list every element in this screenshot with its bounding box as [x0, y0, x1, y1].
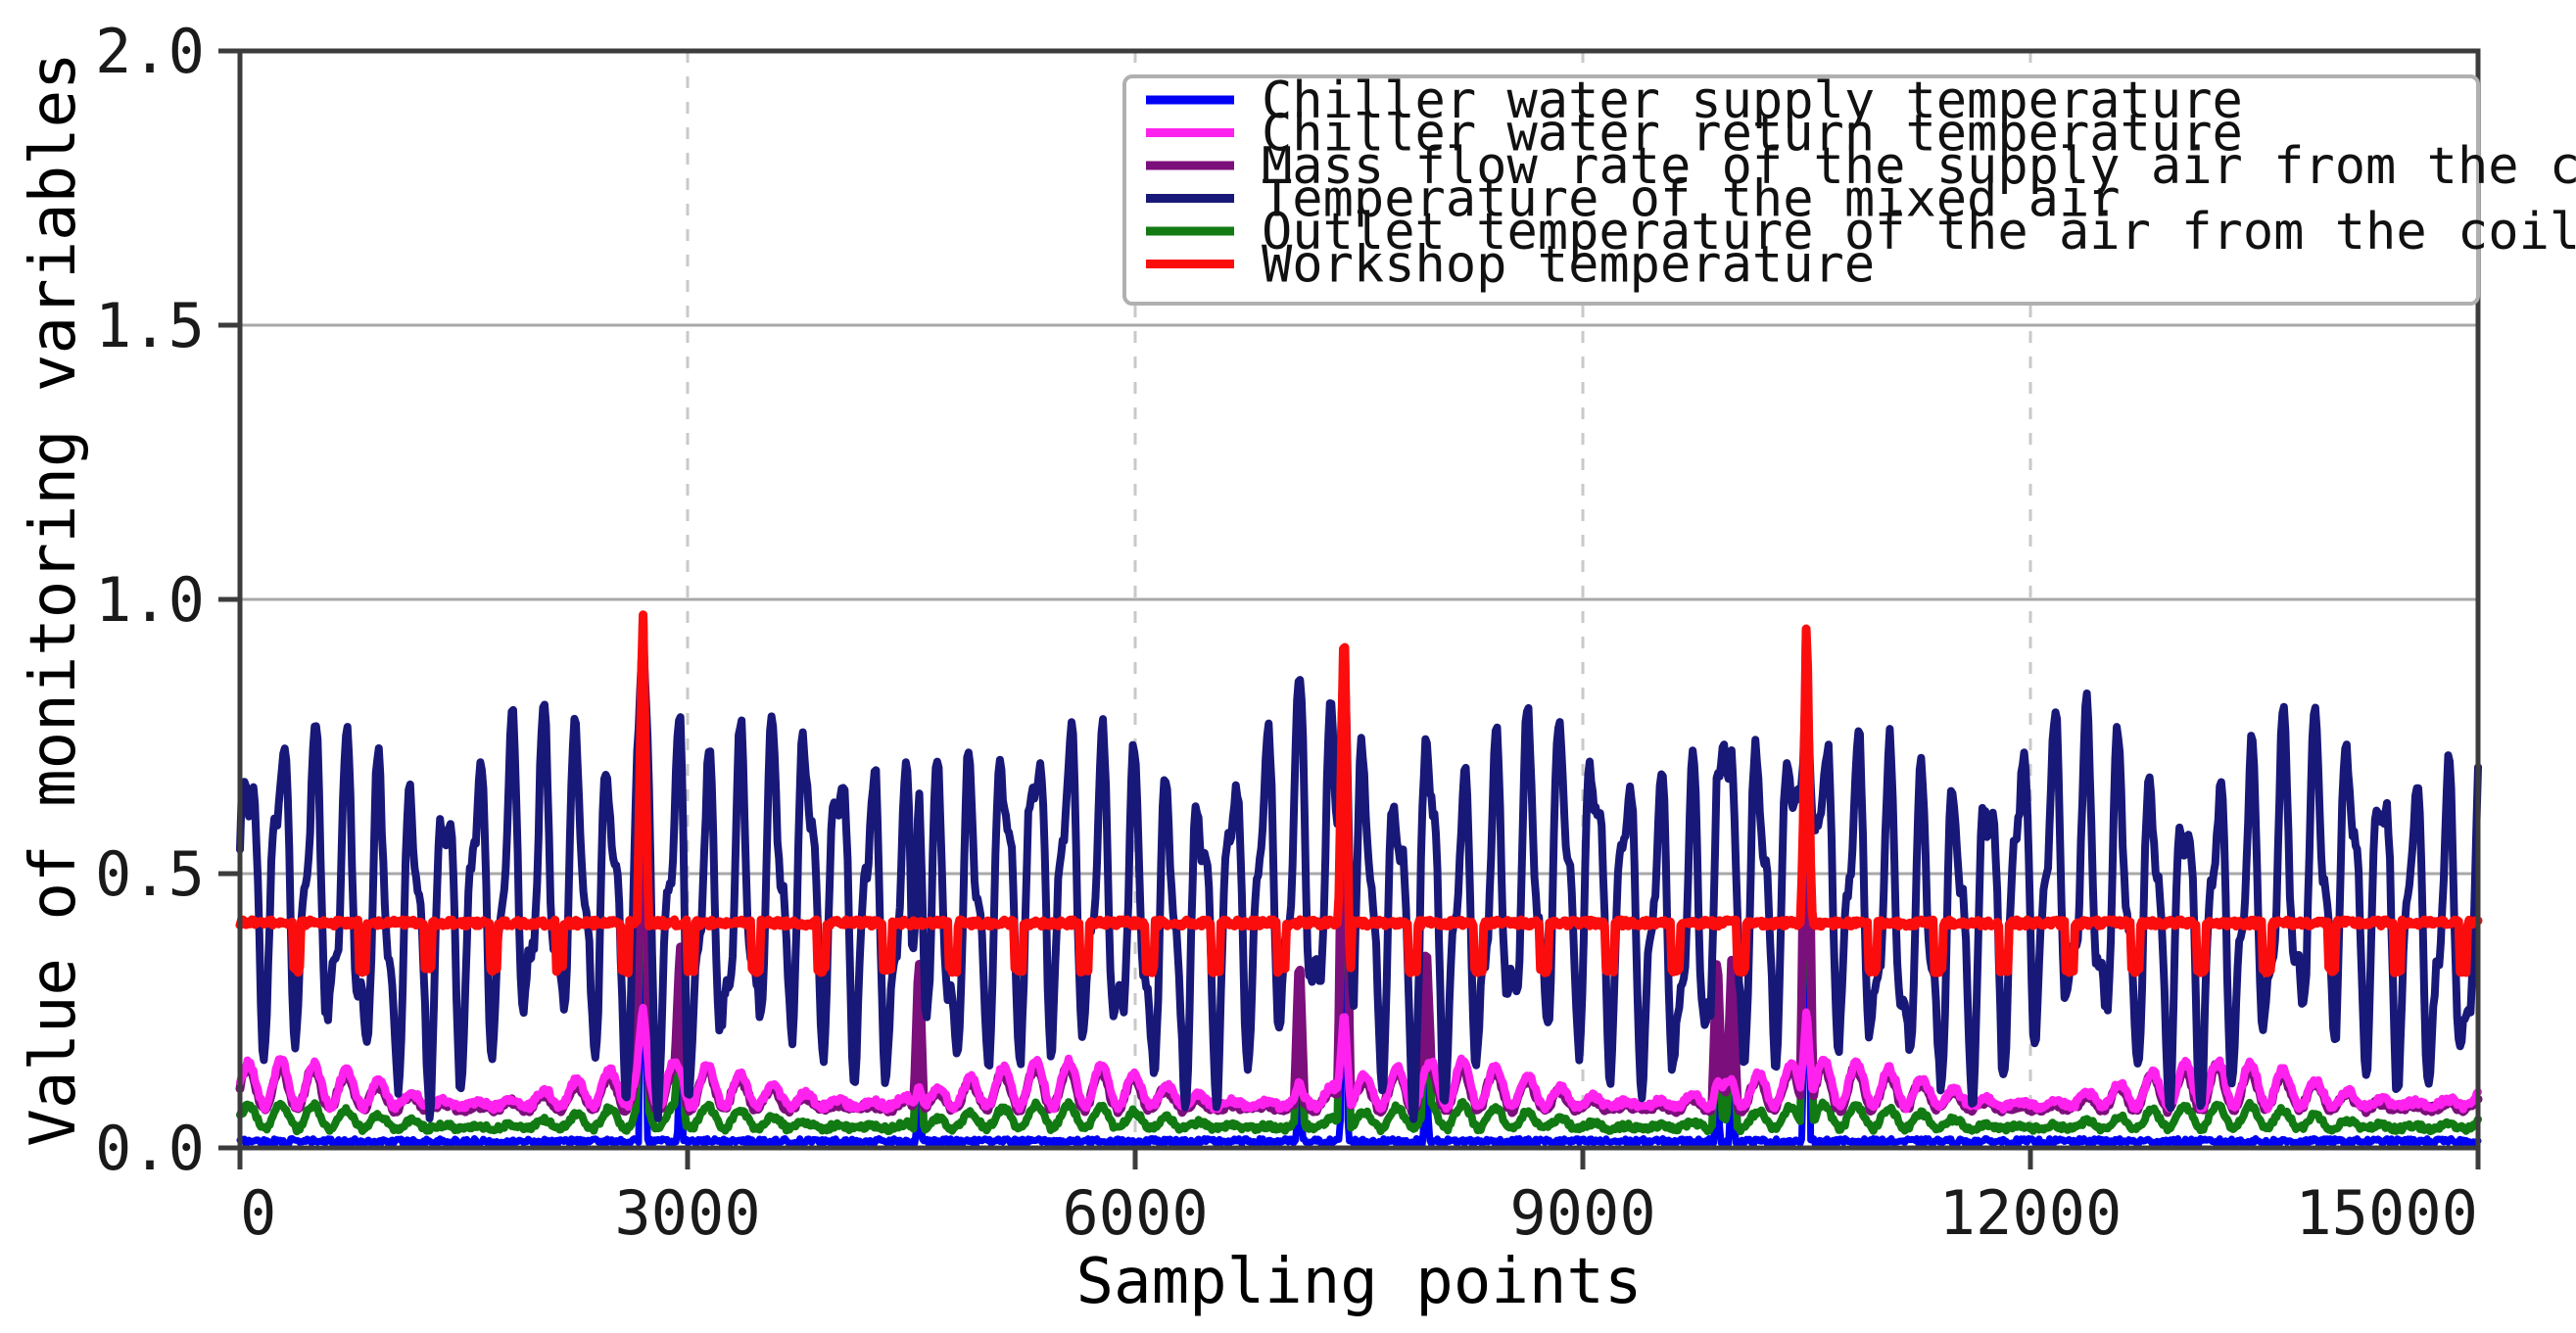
chart-canvas: 0.00.51.01.52.003000600090001200015000Sa… — [0, 0, 2576, 1333]
x-axis-tick-label: 15000 — [2295, 1177, 2478, 1249]
chart-figure: 0.00.51.01.52.003000600090001200015000Sa… — [0, 0, 2576, 1333]
legend[interactable]: Chiller water supply temperatureChiller … — [1124, 71, 2576, 304]
y-axis-tick-label: 0.5 — [95, 838, 205, 910]
x-axis-title: Sampling points — [1076, 1246, 1643, 1318]
y-axis-tick-label: 2.0 — [95, 16, 205, 87]
x-axis-tick-label: 0 — [240, 1177, 276, 1249]
y-axis-tick-label: 1.0 — [95, 564, 205, 636]
x-axis-tick-label: 3000 — [614, 1177, 760, 1249]
x-axis-tick-label: 9000 — [1509, 1177, 1655, 1249]
x-axis-tick-label: 6000 — [1062, 1177, 1208, 1249]
legend-label: Workshop temperature — [1262, 236, 1875, 295]
x-axis-tick-label: 12000 — [1939, 1177, 2123, 1249]
y-axis-tick-label: 0.0 — [95, 1113, 205, 1184]
y-axis-tick-label: 1.5 — [95, 290, 205, 361]
y-axis-title: Value of monitoring variables — [18, 52, 90, 1146]
